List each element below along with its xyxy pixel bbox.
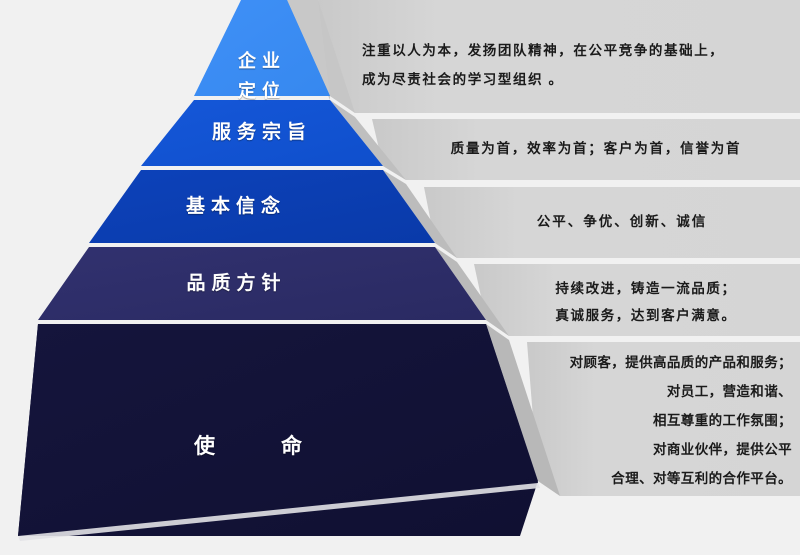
pyramid-artwork: [0, 0, 800, 555]
info-panel-5-bg: [527, 342, 800, 496]
pyramid-level-3[interactable]: [89, 170, 435, 243]
info-panel-3-bg: [424, 187, 800, 258]
pyramid-level-4[interactable]: [38, 247, 486, 320]
info-panel-1-bg: [318, 0, 800, 113]
pyramid-diagram: 企业 定位 服务宗旨 基本信念 品质方针 使 命 注重以人为本，发扬团队精神，在…: [0, 0, 800, 555]
info-panel-4-bg: [474, 264, 800, 336]
info-panel-2-bg: [372, 119, 800, 180]
